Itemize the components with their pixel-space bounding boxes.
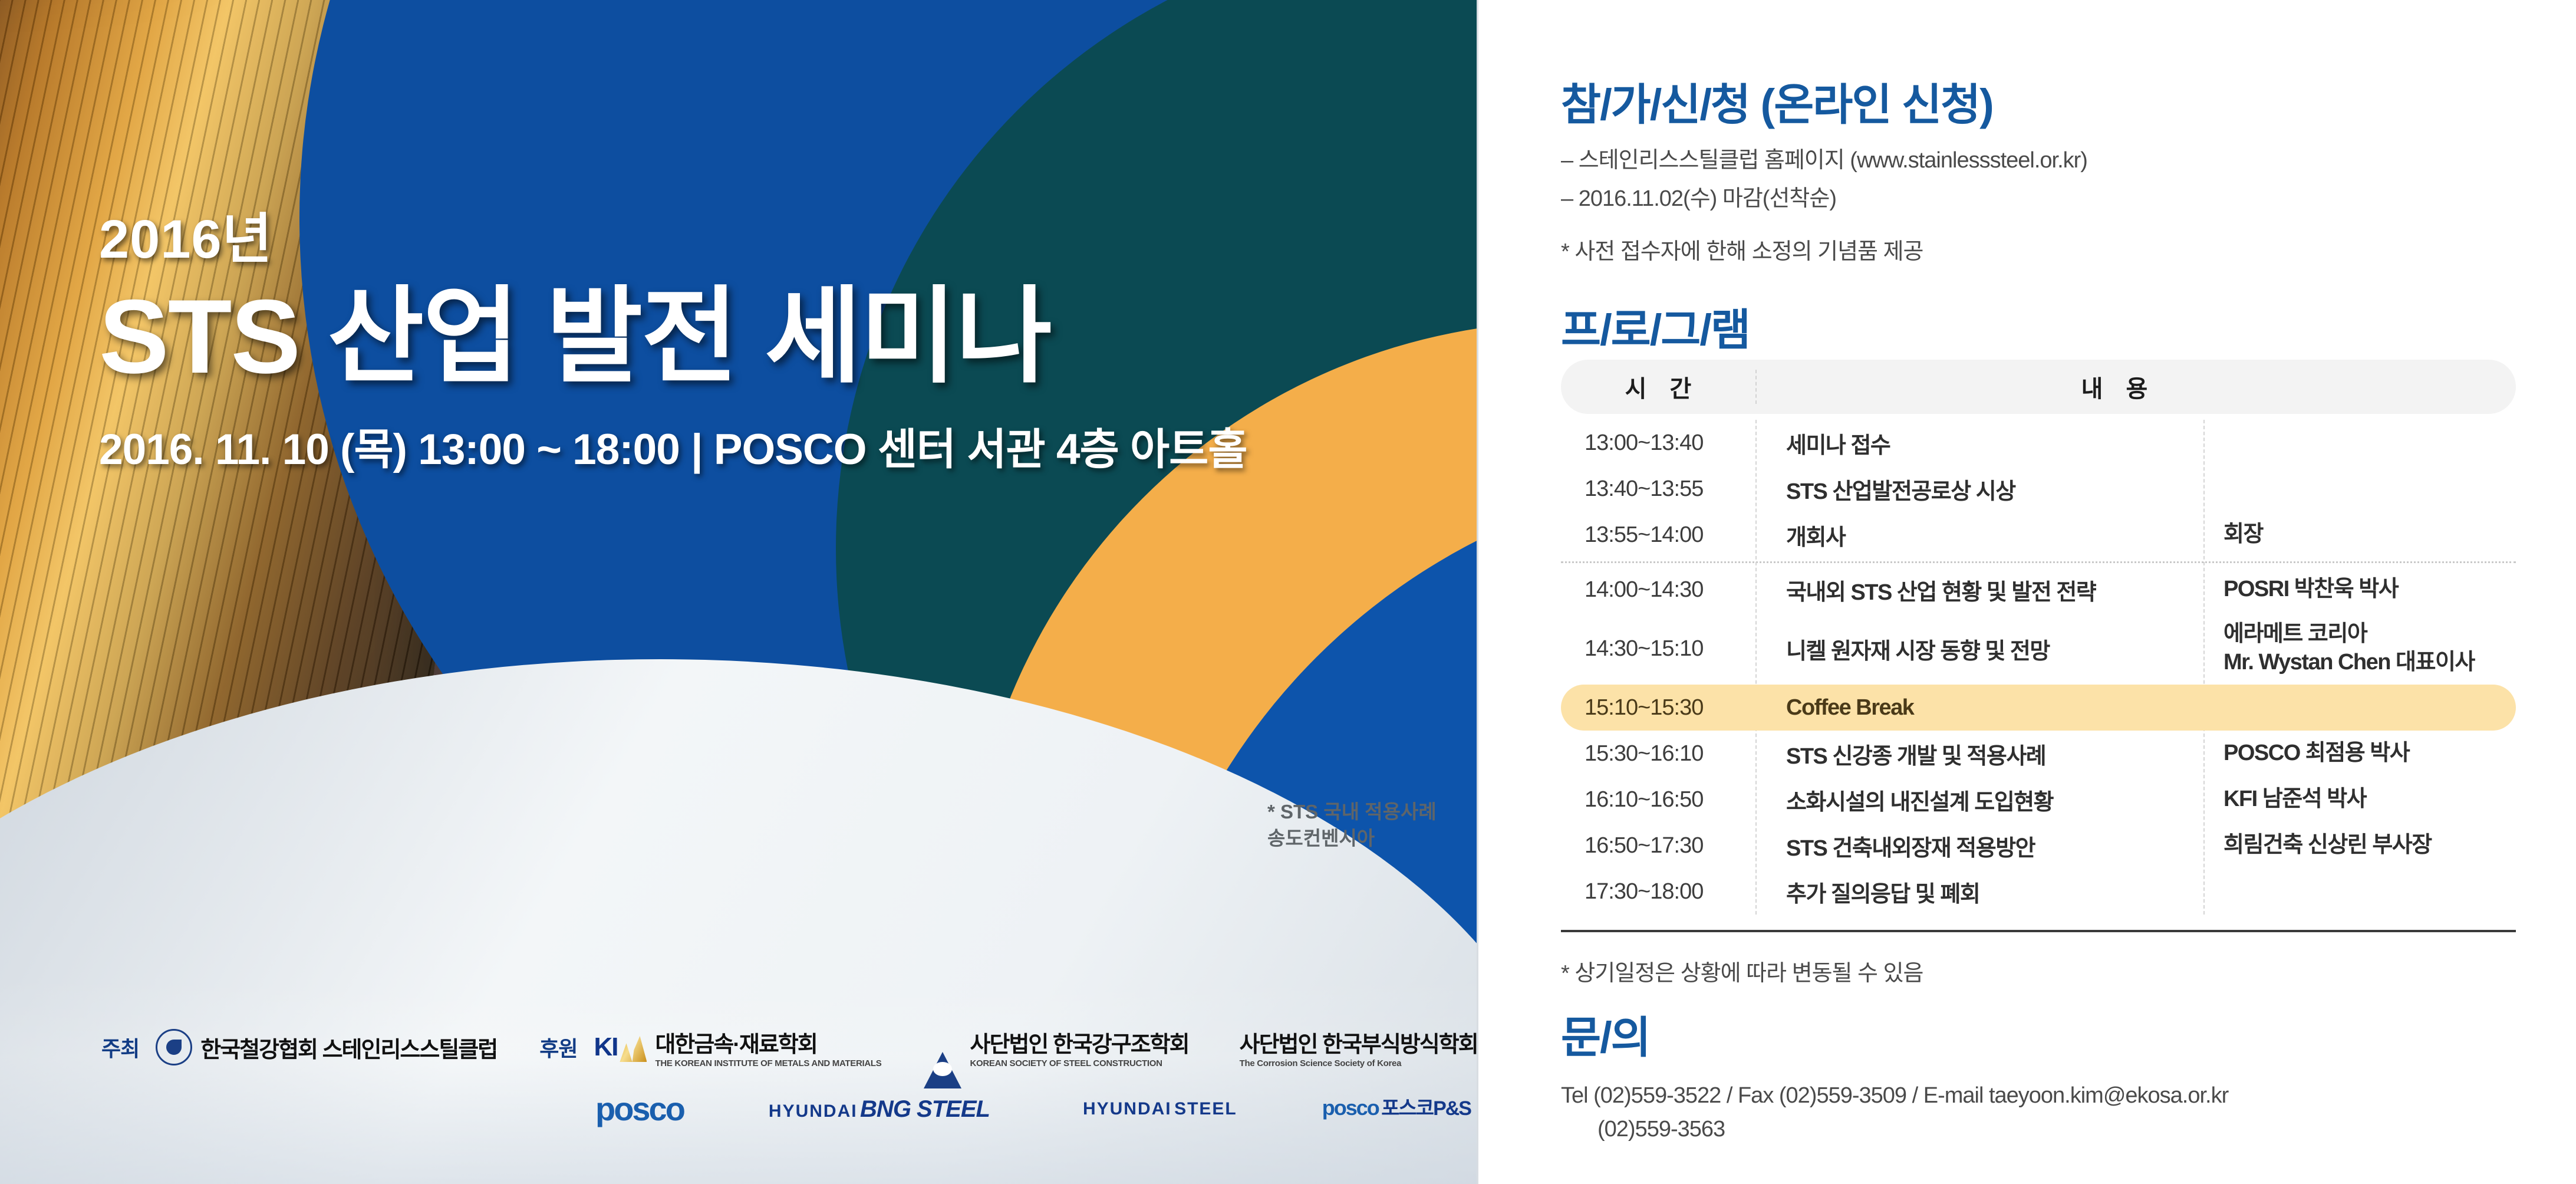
table-row: 16:50~17:30 STS 건축내외장재 적용방안 희림건축 신상린 부사장 <box>1561 823 2516 869</box>
contact-line-primary: Tel (02)559-3522 / Fax (02)559-3509 / E-… <box>1561 1079 2534 1113</box>
cell-speaker: 회장 <box>2203 521 2516 549</box>
host-label: 주최 <box>101 1032 139 1063</box>
photo-caption: * STS 국내 적용사례 송도컨벤시아 <box>1267 799 1462 851</box>
cell-time: 17:30~18:00 <box>1561 879 1755 905</box>
sponsor-logo-cssk: 사단법인 한국부식방식학회 The Corrosion Science Soci… <box>1231 1026 1478 1068</box>
table-row: 14:30~15:10 니켈 원자재 시장 동향 및 전망 에라메트 코리아 M… <box>1561 613 2516 685</box>
sponsor-logo-hyundai-steel: HYUNDAI STEEL <box>1075 1100 1237 1119</box>
cell-time: 15:30~16:10 <box>1561 741 1755 767</box>
sponsor-logo-bng-steel: HYUNDAI BNG STEEL <box>769 1097 990 1121</box>
row-separator <box>1561 561 2516 563</box>
photo-caption-line-2: 송도컨벤시아 <box>1267 825 1462 852</box>
table-row: 13:40~13:55 STS 산업발전공로상 시상 <box>1561 466 2516 512</box>
cell-speaker-line-1: 에라메트 코리아 <box>2223 620 2516 649</box>
apply-heading: 참/가/신/청 (온라인 신청) <box>1561 70 1993 133</box>
kim-icon: KI <box>594 1032 647 1062</box>
column-header-time: 시 간 <box>1561 370 1755 404</box>
hero-text-block: 2016년 STS 산업 발전 세미나 2016. 11. 10 (목) 13:… <box>99 212 1366 477</box>
contact-heading: 문/의 <box>1561 1002 1650 1065</box>
cell-time: 13:00~13:40 <box>1561 430 1755 456</box>
sponsor-logo-kssc: 사단법인 한국강구조학회 KOREAN SOCIETY OF STEEL CON… <box>924 1026 1188 1068</box>
sponsor-row-organizations: 주최 한국철강협회 스테인리스스틸클럽 후원 KI 대한금속·재료학회 THE … <box>0 1026 1478 1068</box>
hero-subinfo: 2016. 11. 10 (목) 13:00 ~ 18:00 | POSCO 센… <box>99 415 1366 477</box>
contact-line-secondary: (02)559-3563 <box>1561 1113 2534 1146</box>
cell-speaker: POSCO 최점용 박사 <box>2203 739 2516 768</box>
posco-wordmark: posco <box>595 1090 684 1128</box>
sponsor-name-kssc: 사단법인 한국강구조학회 <box>970 1032 1188 1057</box>
left-visual-panel: 2016년 STS 산업 발전 세미나 2016. 11. 10 (목) 13:… <box>0 0 1478 1184</box>
sponsor-row-companies: posco HYUNDAI BNG STEEL HYUNDAI STEEL <box>0 1090 1478 1128</box>
sponsor-logo-stainless-steel-club: 한국철강협회 스테인리스스틸클럽 <box>156 1029 497 1065</box>
program-table-header: 시 간 내 용 <box>1561 360 2516 414</box>
support-label: 후원 <box>539 1032 577 1063</box>
hero-title: STS 산업 발전 세미나 <box>99 282 1366 391</box>
iron-steel-association-icon <box>156 1029 192 1065</box>
sponsor-sub-kim: THE KOREAN INSTITUTE OF METALS AND MATER… <box>655 1058 881 1068</box>
posco-pns-word: posco <box>1322 1096 1379 1120</box>
sponsor-sub-kssc: KOREAN SOCIETY OF STEEL CONSTRUCTION <box>970 1058 1188 1068</box>
cell-time: 14:00~14:30 <box>1561 577 1755 603</box>
cell-time: 16:10~16:50 <box>1561 787 1755 813</box>
cell-topic: 국내외 STS 산업 현황 및 발전 전략 <box>1755 574 2203 606</box>
cell-speaker-line-2: Mr. Wystan Chen 대표이사 <box>2223 649 2516 677</box>
cell-speaker: 에라메트 코리아 Mr. Wystan Chen 대표이사 <box>2203 620 2516 677</box>
hero-year: 2016년 <box>99 212 1366 267</box>
cell-topic: Coffee Break <box>1755 695 2203 721</box>
cell-speaker: 희림건축 신상린 부사장 <box>2203 831 2516 860</box>
table-row: 13:55~14:00 개회사 회장 <box>1561 512 2516 558</box>
cell-topic: STS 건축내외장재 적용방안 <box>1755 830 2203 862</box>
program-note: * 상기일정은 상황에 따라 변동될 수 있음 <box>1561 955 2516 987</box>
program-table: 시 간 내 용 13:00~13:40 세미나 접수 13:40~13:55 S… <box>1561 360 2516 987</box>
table-row: 17:30~18:00 추가 질의응답 및 폐회 <box>1561 869 2516 915</box>
cell-topic: 니켈 원자재 시장 동향 및 전망 <box>1755 633 2203 665</box>
cell-topic: 추가 질의응답 및 폐회 <box>1755 876 2203 908</box>
sponsor-logo-posco-pns: posco 포스코P&S <box>1322 1097 1471 1120</box>
cell-time: 15:10~15:30 <box>1561 695 1755 721</box>
kssc-triangle-icon <box>924 1042 961 1053</box>
cell-speaker: POSRI 박찬욱 박사 <box>2203 575 2516 604</box>
apply-line-website: – 스테인리스스틸클럽 홈페이지 (www.stainlesssteel.or.… <box>1561 142 2504 180</box>
cell-time: 13:40~13:55 <box>1561 476 1755 502</box>
apply-line-deadline: – 2016.11.02(수) 마감(선착순) <box>1561 180 2504 218</box>
sponsor-name-cssk: 사단법인 한국부식방식학회 <box>1240 1032 1478 1057</box>
table-row: 15:30~16:10 STS 신강종 개발 및 적용사례 POSCO 최점용 … <box>1561 731 2516 777</box>
seminar-poster: 2016년 STS 산업 발전 세미나 2016. 11. 10 (목) 13:… <box>0 0 2576 1184</box>
sponsor-logo-posco: posco <box>595 1090 684 1128</box>
cell-speaker: KFI 남준석 박사 <box>2203 785 2516 814</box>
sponsor-sub-cssk: The Corrosion Science Society of Korea <box>1240 1058 1478 1068</box>
cell-topic: STS 산업발전공로상 시상 <box>1755 473 2203 505</box>
cell-topic: STS 신강종 개발 및 적용사례 <box>1755 738 2203 770</box>
sponsor-logo-kim: KI 대한금속·재료학회 THE KOREAN INSTITUTE OF MET… <box>594 1026 881 1068</box>
table-row: 14:00~14:30 국내외 STS 산업 현황 및 발전 전략 POSRI … <box>1561 567 2516 613</box>
program-heading: 프/로/그/램 <box>1561 295 1750 358</box>
posco-pns-sub: 포스코P&S <box>1381 1097 1471 1120</box>
table-bottom-rule <box>1561 930 2516 932</box>
program-table-body: 13:00~13:40 세미나 접수 13:40~13:55 STS 산업발전공… <box>1561 420 2516 915</box>
table-row-coffee-break: 15:10~15:30 Coffee Break <box>1561 685 2516 731</box>
sponsor-name-kim: 대한금속·재료학회 <box>655 1032 816 1057</box>
contact-block: Tel (02)559-3522 / Fax (02)559-3509 / E-… <box>1561 1079 2534 1146</box>
table-row: 16:10~16:50 소화시설의 내진설계 도입현황 KFI 남준석 박사 <box>1561 777 2516 823</box>
apply-note: * 사전 접수자에 한해 소정의 기념품 제공 <box>1561 233 2504 265</box>
bng-hyundai-word: HYUNDAI <box>769 1101 858 1121</box>
cell-time: 16:50~17:30 <box>1561 833 1755 859</box>
sponsor-block: 주최 한국철강협회 스테인리스스틸클럽 후원 KI 대한금속·재료학회 THE … <box>0 1026 1478 1128</box>
table-row: 13:00~13:40 세미나 접수 <box>1561 420 2516 466</box>
apply-info-block: – 스테인리스스틸클럽 홈페이지 (www.stainlesssteel.or.… <box>1561 142 2504 265</box>
bng-steel-word: BNG STEEL <box>860 1096 990 1122</box>
cell-time: 14:30~15:10 <box>1561 636 1755 662</box>
cell-topic: 개회사 <box>1755 519 2203 551</box>
cell-topic: 소화시설의 내진설계 도입현황 <box>1755 784 2203 816</box>
cell-topic: 세미나 접수 <box>1755 427 2203 459</box>
cell-time: 13:55~14:00 <box>1561 522 1755 548</box>
column-header-content: 내 용 <box>1755 370 2516 404</box>
photo-caption-line-1: * STS 국내 적용사례 <box>1267 799 1462 825</box>
hyundai-steel-sub: STEEL <box>1174 1099 1237 1119</box>
host-name: 한국철강협회 스테인리스스틸클럽 <box>200 1031 497 1064</box>
hyundai-steel-word: HYUNDAI <box>1083 1099 1172 1119</box>
right-content-panel: 참/가/신/청 (온라인 신청) – 스테인리스스틸클럽 홈페이지 (www.s… <box>1478 0 2576 1184</box>
